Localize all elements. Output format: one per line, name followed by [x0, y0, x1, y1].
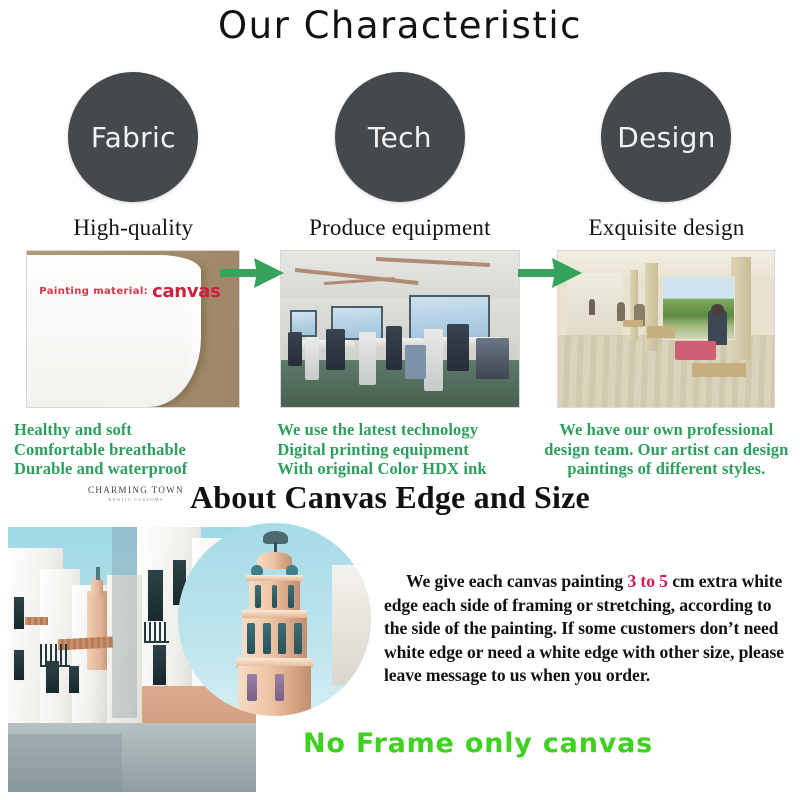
- edge-size-description: We give each canvas painting 3 to 5 cm e…: [384, 570, 796, 688]
- feature-circle-fabric: Fabric: [68, 72, 198, 202]
- section2-title: About Canvas Edge and Size: [190, 479, 590, 516]
- tower-zoom-inset: [178, 523, 371, 716]
- page-title: Our Characteristic: [0, 4, 800, 47]
- feature-circle-label: Design: [617, 121, 715, 154]
- brand-name: CHARMING TOWN: [78, 485, 194, 495]
- feature-caption: High-quality: [73, 215, 193, 241]
- feature-circle-design: Design: [601, 72, 731, 202]
- arrow-right-icon: [518, 256, 582, 290]
- benefit-line: Digital printing equipment: [277, 440, 532, 460]
- section2-header: CHARMING TOWN EXOTIC CUSTOMS About Canva…: [0, 483, 800, 517]
- photo-overlay-small: Painting material:: [39, 286, 148, 297]
- benefit-line: Durable and waterproof: [14, 459, 269, 479]
- photo-overlay-text: Painting material:canvas: [39, 281, 220, 302]
- desc-highlight: 3 to 5: [627, 571, 667, 591]
- benefit-block-fabric: Healthy and soft Comfortable breathable …: [0, 420, 269, 479]
- no-frame-note: No Frame only canvas: [303, 728, 653, 759]
- printing-factory-photo: [280, 250, 520, 408]
- benefit-line: We use the latest technology: [277, 420, 532, 440]
- benefit-line: Healthy and soft: [14, 420, 269, 440]
- benefits-row: Healthy and soft Comfortable breathable …: [0, 420, 800, 479]
- feature-circle-label: Tech: [368, 121, 432, 154]
- feature-circle-label: Fabric: [91, 121, 176, 154]
- arrow-right-icon: [220, 256, 284, 290]
- benefit-line: design team. Our artist can design: [539, 440, 794, 460]
- benefit-line: With original Color HDX ink: [277, 459, 532, 479]
- benefit-line: paintings of different styles.: [539, 459, 794, 479]
- desc-before: We give each canvas painting: [406, 571, 627, 591]
- feature-caption: Produce equipment: [309, 215, 491, 241]
- photo-overlay-big: canvas: [152, 281, 220, 302]
- canvas-material-photo: Painting material:canvas: [26, 250, 240, 408]
- benefit-block-tech: We use the latest technology Digital pri…: [269, 420, 532, 479]
- benefit-line: We have our own professional: [539, 420, 794, 440]
- benefit-block-design: We have our own professional design team…: [533, 420, 800, 479]
- benefit-line: Comfortable breathable: [14, 440, 269, 460]
- brand-logo: CHARMING TOWN EXOTIC CUSTOMS: [78, 485, 194, 502]
- art-studio-photo: [557, 250, 775, 408]
- feature-caption: Exquisite design: [589, 215, 745, 241]
- feature-circle-tech: Tech: [335, 72, 465, 202]
- brand-tagline: EXOTIC CUSTOMS: [78, 497, 194, 502]
